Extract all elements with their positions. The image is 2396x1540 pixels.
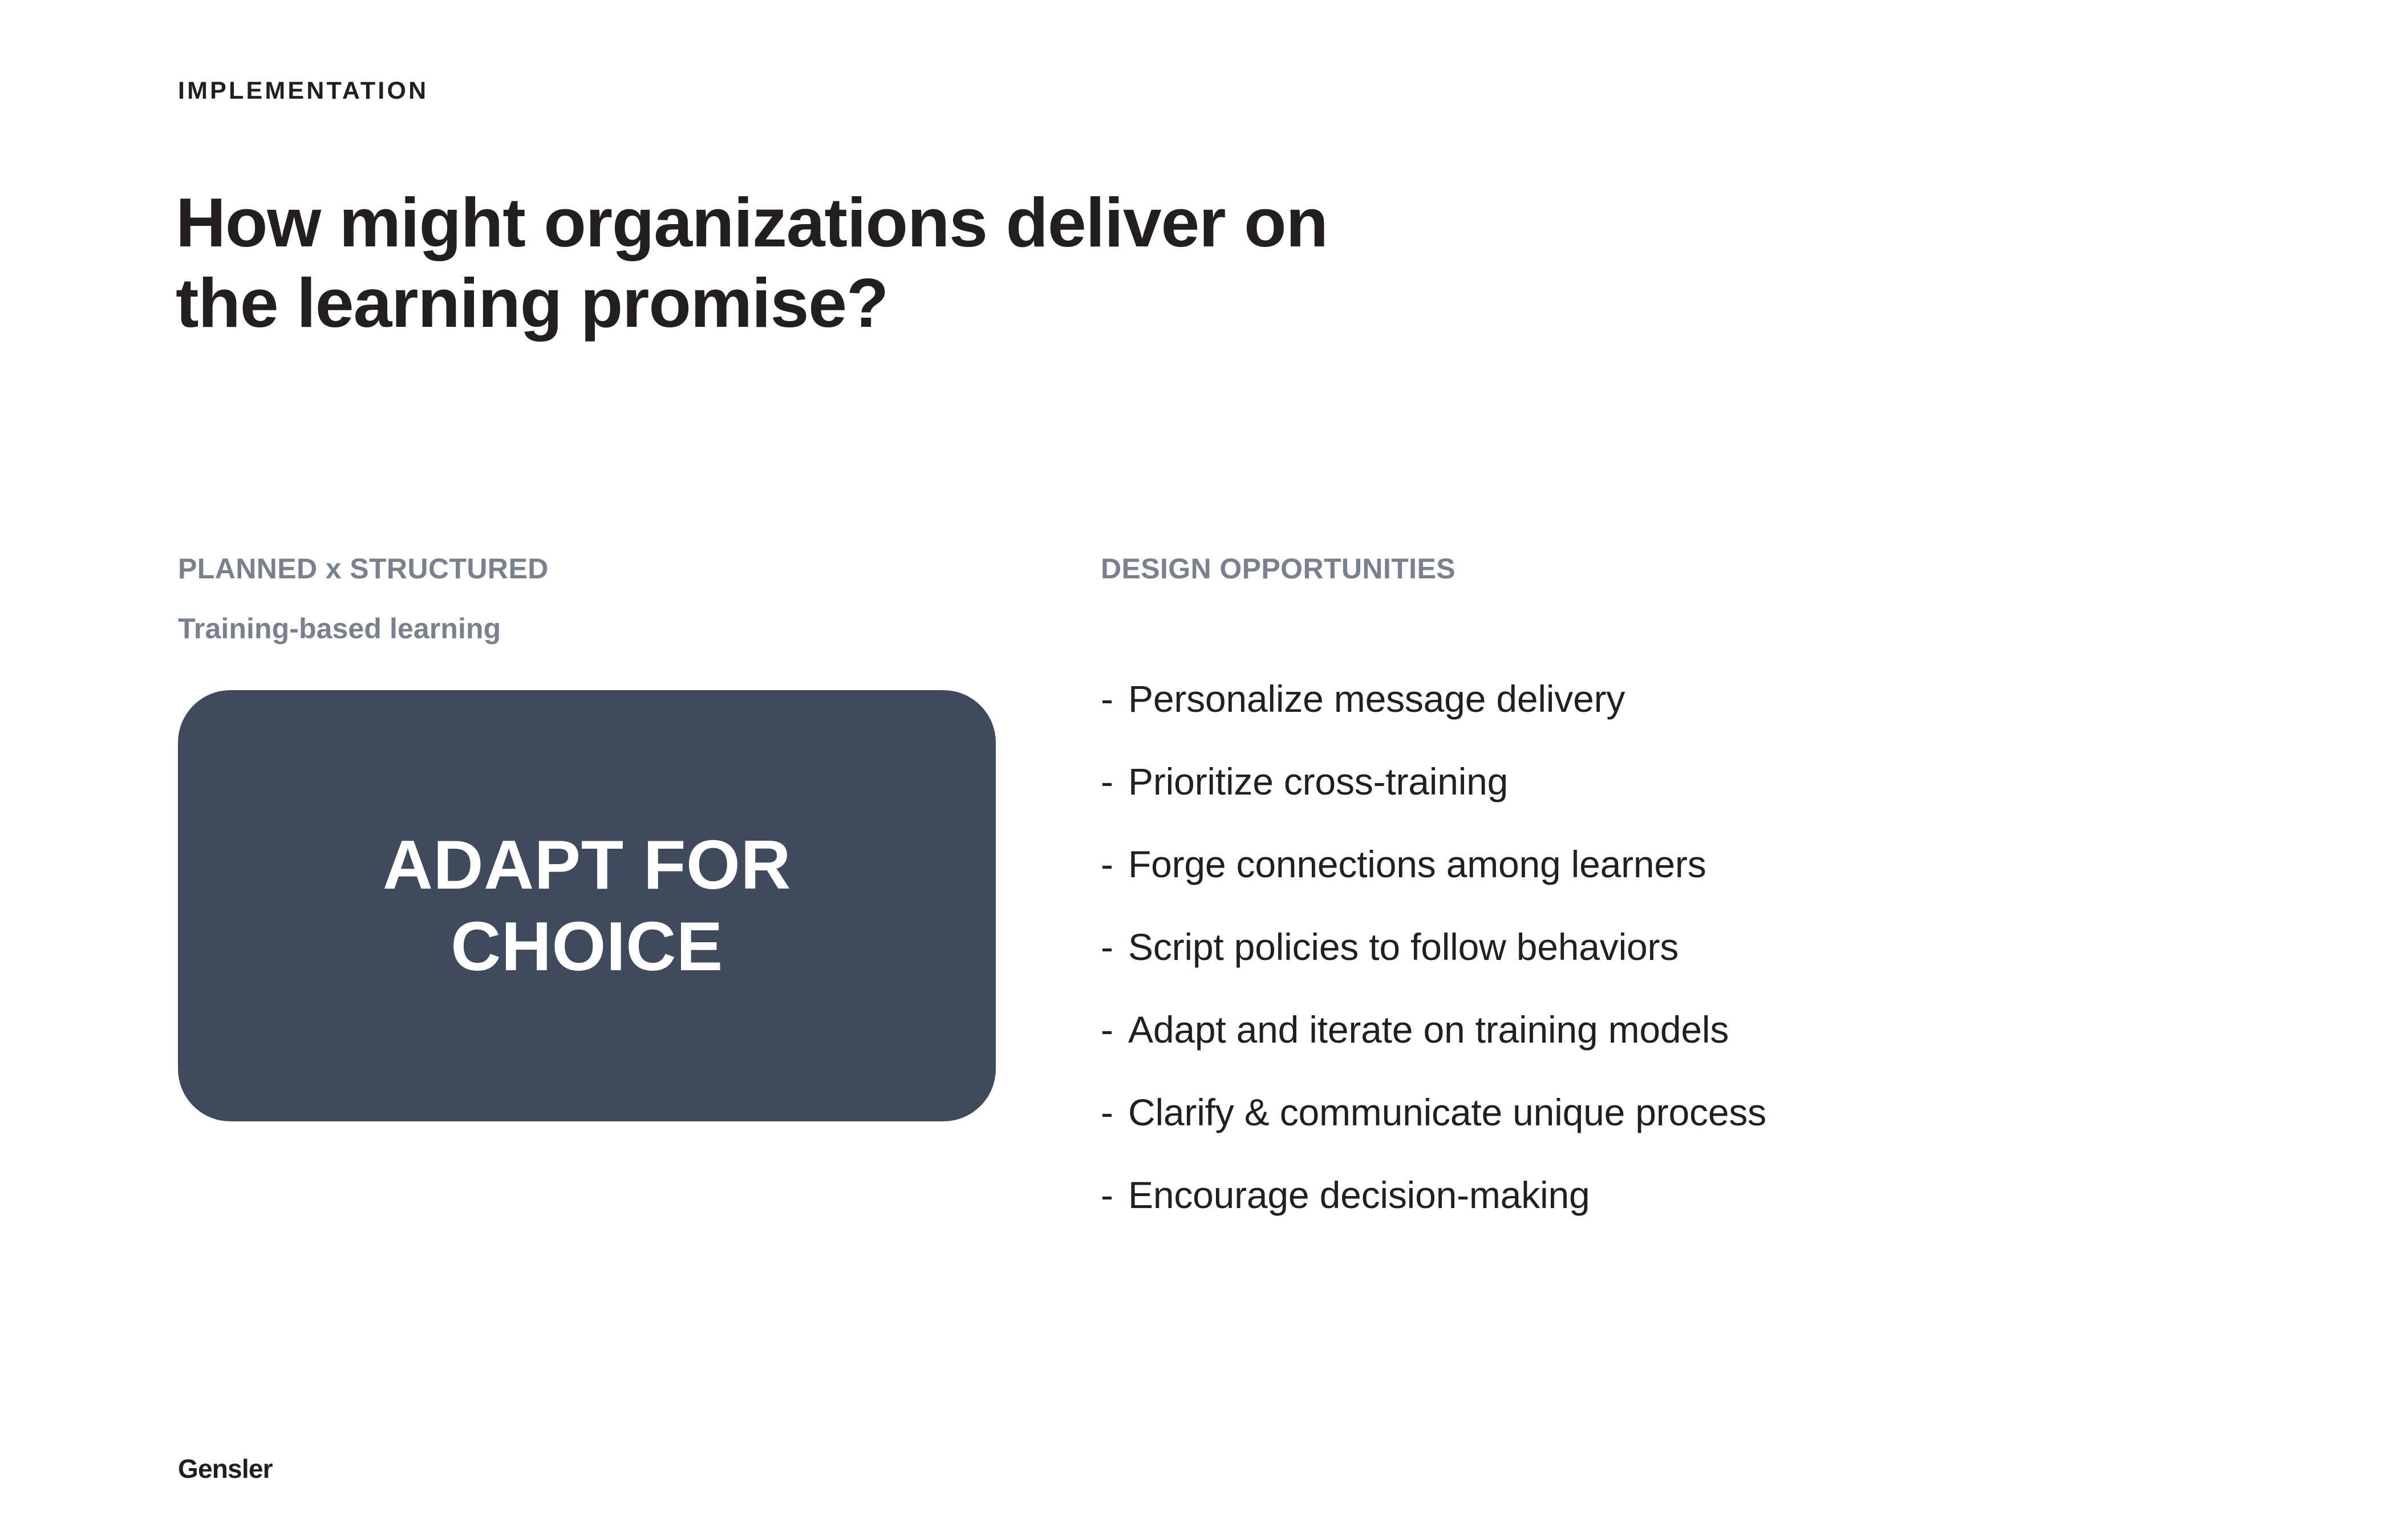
gensler-logo: Gensler	[178, 1456, 273, 1482]
left-column-label: PLANNED x STRUCTURED	[178, 552, 1068, 586]
page-title: How might organizations deliver on the l…	[176, 183, 1328, 344]
left-column-header: PLANNED x STRUCTURED Training-based lear…	[178, 552, 1068, 646]
bullet-marker-icon: -	[1101, 1011, 1128, 1048]
list-item-label: Clarify & communicate unique process	[1128, 1093, 2333, 1131]
list-item-label: Prioritize cross-training	[1128, 763, 2333, 800]
bullet-marker-icon: -	[1101, 928, 1128, 966]
bullet-marker-icon: -	[1101, 845, 1128, 883]
list-item: -Script policies to follow behaviors	[1101, 928, 2333, 1011]
right-column-header: DESIGN OPPORTUNITIES	[1101, 552, 2298, 586]
slide-canvas: IMPLEMENTATION How might organizations d…	[0, 0, 2396, 1540]
list-item-label: Forge connections among learners	[1128, 845, 2333, 883]
bullet-marker-icon: -	[1101, 680, 1128, 718]
list-item-label: Personalize message delivery	[1128, 680, 2333, 718]
eyebrow-label: IMPLEMENTATION	[178, 79, 428, 103]
left-column-sublabel: Training-based learning	[178, 612, 1068, 646]
right-column-label: DESIGN OPPORTUNITIES	[1101, 552, 2298, 586]
list-item: -Adapt and iterate on training models	[1101, 1011, 2333, 1093]
list-item-label: Adapt and iterate on training models	[1128, 1011, 2333, 1048]
list-item: -Clarify & communicate unique process	[1101, 1093, 2333, 1176]
bullet-marker-icon: -	[1101, 1176, 1128, 1214]
bullet-marker-icon: -	[1101, 1093, 1128, 1131]
card-title: ADAPT FOR CHOICE	[383, 824, 791, 987]
bullet-marker-icon: -	[1101, 763, 1128, 800]
list-item: -Encourage decision-making	[1101, 1176, 2333, 1259]
list-item-label: Script policies to follow behaviors	[1128, 928, 2333, 966]
list-item: -Personalize message delivery	[1101, 680, 2333, 763]
design-opportunities-list: -Personalize message delivery-Prioritize…	[1101, 680, 2333, 1259]
list-item-label: Encourage decision-making	[1128, 1176, 2333, 1214]
adapt-for-choice-card: ADAPT FOR CHOICE	[178, 690, 996, 1121]
list-item: -Forge connections among learners	[1101, 845, 2333, 928]
list-item: -Prioritize cross-training	[1101, 763, 2333, 845]
